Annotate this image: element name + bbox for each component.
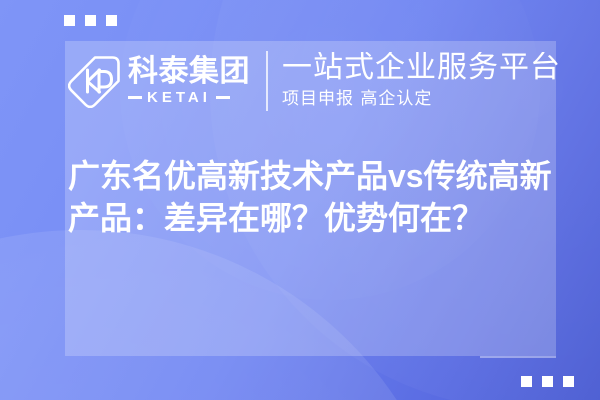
background-blob-lower-left	[0, 230, 460, 400]
ketai-logo-mark-icon	[68, 54, 122, 108]
logo-name-en-row: KETAI	[128, 89, 250, 106]
decor-square-icon	[85, 15, 96, 26]
headline-line-2: 产品：差异在哪？优势何在？	[68, 197, 568, 239]
tagline-sub: 项目申报 高企认定	[282, 88, 558, 110]
header-vertical-divider	[266, 51, 268, 111]
decor-square-icon	[106, 15, 117, 26]
logo-wordmark: 科泰集团 KETAI	[128, 56, 250, 105]
decor-square-icon	[64, 15, 75, 26]
decor-square-icon	[542, 376, 553, 387]
decor-dots-bottom-right	[521, 376, 574, 387]
decor-line-bottom-right	[480, 356, 556, 358]
decor-dots-top-left	[64, 15, 117, 26]
decor-square-icon	[563, 376, 574, 387]
logo-name-en: KETAI	[147, 89, 211, 106]
logo-dash-left-icon	[128, 96, 142, 99]
banner-headline: 广东名优高新技术产品vs传统高新 产品：差异在哪？优势何在？	[68, 155, 568, 239]
promo-banner: 科泰集团 KETAI 一站式企业服务平台 项目申报 高企认定 广东名优高新技术产…	[0, 0, 600, 400]
tagline-block: 一站式企业服务平台 项目申报 高企认定	[282, 52, 558, 109]
decor-square-icon	[521, 376, 532, 387]
tagline-main: 一站式企业服务平台	[282, 52, 558, 84]
banner-header: 科泰集团 KETAI 一站式企业服务平台 项目申报 高企认定	[68, 45, 558, 117]
logo-name-cn: 科泰集团	[128, 56, 250, 87]
headline-line-1: 广东名优高新技术产品vs传统高新	[68, 155, 568, 197]
logo-dash-right-icon	[216, 96, 230, 99]
